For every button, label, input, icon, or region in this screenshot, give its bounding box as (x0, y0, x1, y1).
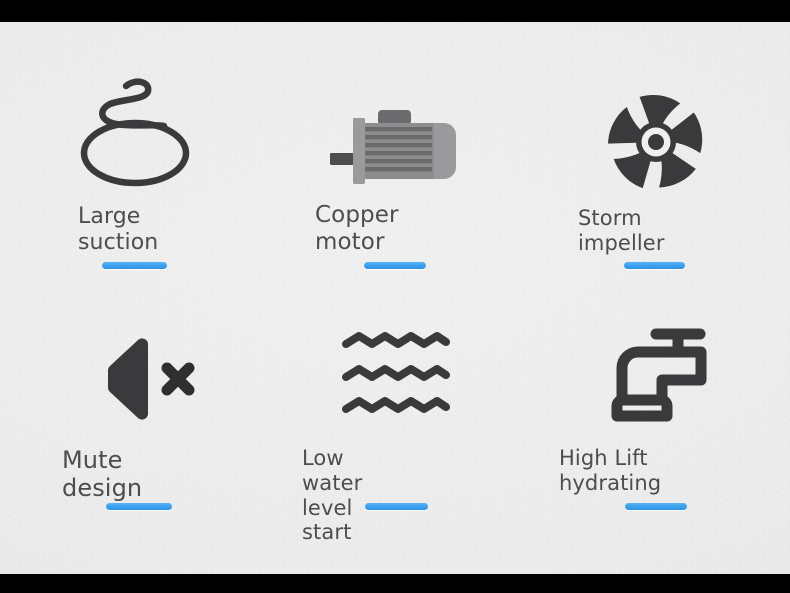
coil-spiral-icon (78, 74, 196, 189)
letterbox-bottom (0, 574, 790, 593)
feature-label-large-suction: Large suction (78, 204, 158, 256)
feature-poster: Large suction (0, 0, 790, 593)
faucet-tap-icon (608, 328, 714, 424)
feature-label-mute-design: Mute design (62, 446, 142, 503)
accent-bar-low-water-level-start (365, 503, 428, 510)
poster-canvas: Large suction (0, 22, 790, 574)
electric-motor-icon (330, 110, 460, 192)
impeller-fan-icon (604, 92, 708, 192)
speaker-mute-icon (88, 338, 196, 420)
accent-bar-copper-motor (364, 262, 426, 269)
feature-label-storm-impeller: Storm impeller (578, 206, 665, 256)
feature-label-high-lift-hydrating: High Lift hydrating (559, 446, 661, 496)
water-waves-icon (343, 335, 449, 411)
accent-bar-large-suction (102, 262, 167, 269)
accent-bar-storm-impeller (624, 262, 685, 269)
feature-label-low-water-level-start: Low water level start (302, 446, 362, 545)
accent-bar-high-lift-hydrating (625, 503, 687, 510)
accent-bar-mute-design (106, 503, 172, 510)
letterbox-top (0, 0, 790, 22)
feature-label-copper-motor: Copper motor (315, 202, 399, 256)
